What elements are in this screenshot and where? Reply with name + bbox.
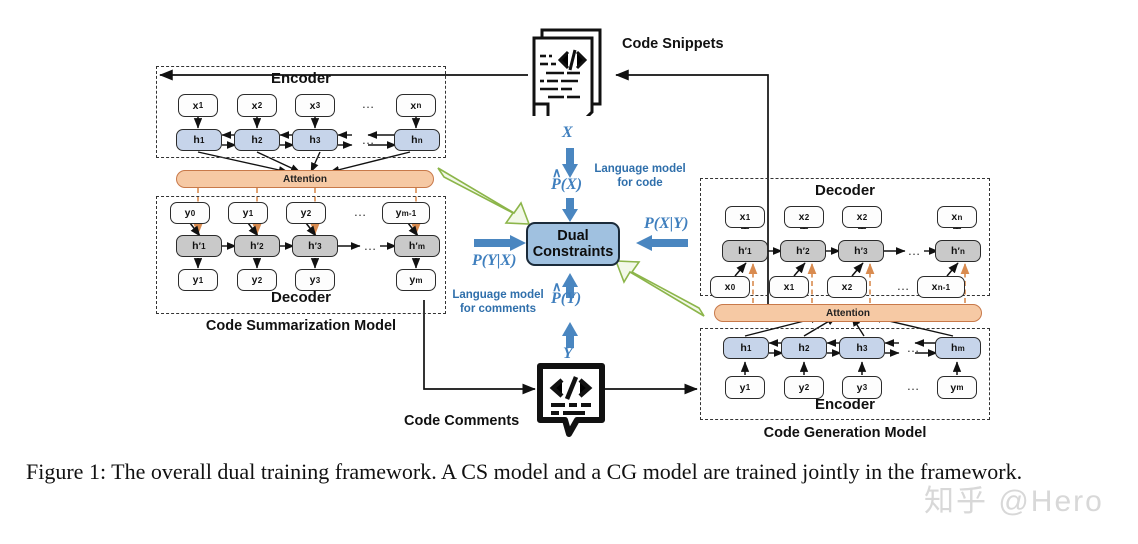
figure-canvas: Code Snippets Code Comments Encoder x1 x… <box>0 0 1138 544</box>
dual-constraints-box: Dual Constraints <box>526 222 620 266</box>
cs-enc-input-0: x1 <box>178 94 218 117</box>
cg-enc-hidden-0: h1 <box>723 337 769 359</box>
cg-enc-input-ellipsis: … <box>903 378 923 393</box>
cg-model-title: Code Generation Model <box>700 425 990 441</box>
cg-enc-input-4: ym <box>937 376 977 399</box>
top-hat: ∧ <box>552 165 562 181</box>
cs-enc-hidden-ellipsis: … <box>358 132 378 147</box>
code-comments-icon <box>535 362 607 440</box>
center-top-input-label: X <box>562 124 573 142</box>
cs-enc-input-2: x3 <box>295 94 335 117</box>
cg-attention-bar: Attention <box>714 304 982 322</box>
center-bottom-input-label: Y <box>563 345 573 363</box>
cs-dec-hidden-2: h′3 <box>292 235 338 257</box>
cg-dec-input-ellipsis: … <box>893 278 913 293</box>
cg-dec-output-2: x2 <box>842 206 882 228</box>
cs-enc-input-ellipsis: … <box>358 96 378 111</box>
cg-dec-input-4: xn-1 <box>917 276 965 298</box>
cs-enc-hidden-4: hn <box>394 129 440 151</box>
lm-code-label: Language model for code <box>592 162 688 191</box>
cg-enc-hidden-2: h3 <box>839 337 885 359</box>
code-snippets-label: Code Snippets <box>622 36 724 52</box>
cs-dec-hidden-0: h′1 <box>176 235 222 257</box>
center-top-prob-label: ∧P(X) <box>551 176 582 194</box>
lm-comments-label: Language model for comments <box>446 288 550 317</box>
right-conditional-prob-label: P(X|Y) <box>644 215 688 233</box>
bottom-hat: ∧ <box>552 279 562 295</box>
cg-dec-hidden-1: h′2 <box>780 240 826 262</box>
cg-dec-hidden-ellipsis: … <box>904 243 924 258</box>
lm-comments-line2: for comments <box>446 302 550 316</box>
cs-dec-input-ellipsis: … <box>350 204 370 219</box>
cg-dec-input-0: x0 <box>710 276 750 298</box>
cg-enc-input-2: y3 <box>842 376 882 399</box>
cg-dec-output-0: x1 <box>725 206 765 228</box>
code-snippets-icon <box>528 26 616 116</box>
cs-dec-hidden-4: h′m <box>394 235 440 257</box>
dual-constraints-line2: Constraints <box>533 244 614 260</box>
cg-dec-hidden-2: h′3 <box>838 240 884 262</box>
cs-enc-input-4: xn <box>396 94 436 117</box>
cg-enc-input-0: y1 <box>725 376 765 399</box>
center-bottom-prob-label: ∧P(Y) <box>551 290 581 308</box>
lm-code-line1: Language model <box>592 162 688 176</box>
cs-dec-input-1: y1 <box>228 202 268 224</box>
cs-dec-input-2: y2 <box>286 202 326 224</box>
cs-dec-hidden-ellipsis: … <box>360 238 380 253</box>
cs-dec-input-0: y0 <box>170 202 210 224</box>
cg-dec-input-1: x1 <box>769 276 809 298</box>
cs-dec-hidden-1: h′2 <box>234 235 280 257</box>
code-comments-label: Code Comments <box>404 413 519 429</box>
cs-dec-output-4: ym <box>396 269 436 291</box>
cs-attention-bar: Attention <box>176 170 434 188</box>
cg-enc-hidden-1: h2 <box>781 337 827 359</box>
cs-enc-input-1: x2 <box>237 94 277 117</box>
lm-comments-line1: Language model <box>446 288 550 302</box>
cs-dec-output-1: y2 <box>237 269 277 291</box>
figure-caption: Figure 1: The overall dual training fram… <box>26 458 1122 487</box>
left-conditional-prob-label: P(Y|X) <box>472 252 516 270</box>
cg-enc-hidden-ellipsis: … <box>903 340 923 355</box>
cg-dec-hidden-4: h′n <box>935 240 981 262</box>
cg-dec-output-4: xn <box>937 206 977 228</box>
cg-dec-input-2: x2 <box>827 276 867 298</box>
cg-dec-output-1: x2 <box>784 206 824 228</box>
cs-dec-output-2: y3 <box>295 269 335 291</box>
cs-model-title: Code Summarization Model <box>156 318 446 334</box>
cs-dec-output-0: y1 <box>178 269 218 291</box>
cs-enc-hidden-0: h1 <box>176 129 222 151</box>
cg-enc-hidden-4: hm <box>935 337 981 359</box>
cs-decoder-title: Decoder <box>156 289 446 306</box>
cg-enc-input-1: y2 <box>784 376 824 399</box>
lm-code-line2: for code <box>592 176 688 190</box>
dual-constraints-line1: Dual <box>557 228 588 244</box>
cs-encoder-title: Encoder <box>156 70 446 87</box>
cg-decoder-title: Decoder <box>700 182 990 199</box>
cs-enc-hidden-2: h3 <box>292 129 338 151</box>
cs-dec-input-4: ym-1 <box>382 202 430 224</box>
cs-enc-hidden-1: h2 <box>234 129 280 151</box>
cg-dec-hidden-0: h′1 <box>722 240 768 262</box>
